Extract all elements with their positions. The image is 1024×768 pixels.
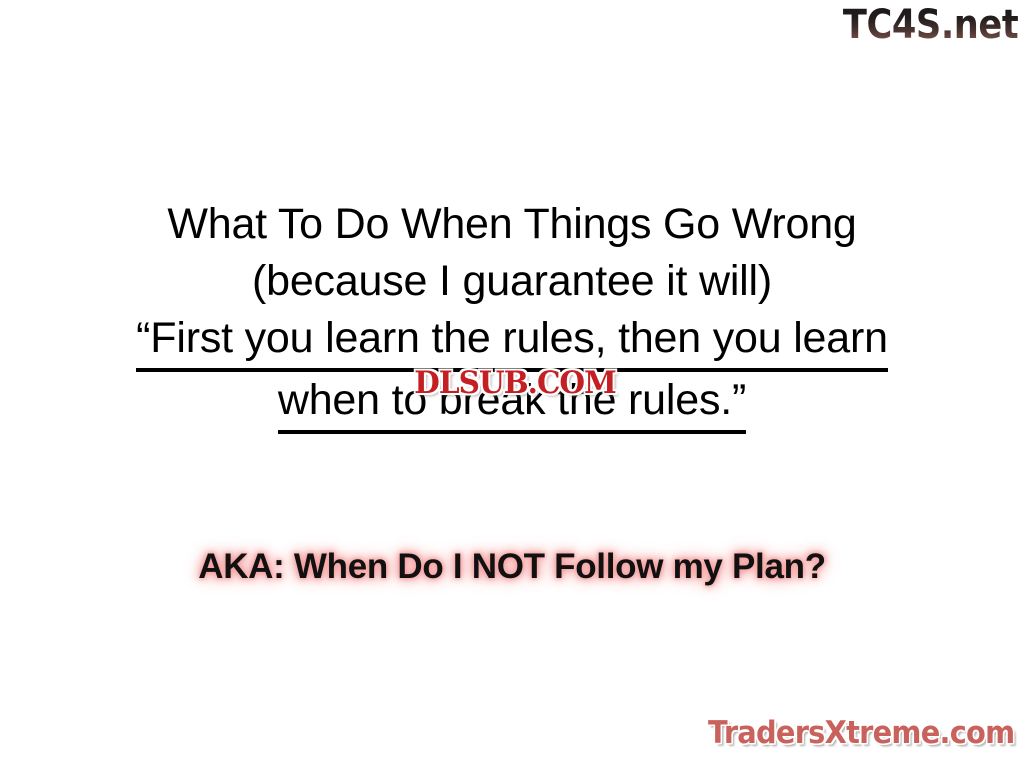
headline-line-1: What To Do When Things Go Wrong [0,196,1024,253]
quote-line-1: “First you learn the rules, then you lea… [136,310,888,372]
tc4s-brand-logo: TC4S.net [843,2,1018,48]
slide-canvas: TC4S.net What To Do When Things Go Wrong… [0,0,1024,768]
aka-subtitle: AKA: When Do I NOT Follow my Plan? [0,545,1024,589]
headline-line-2: (because I guarantee it will) [0,253,1024,310]
dlsub-watermark: DLSUB.COM [374,364,656,402]
tradersxtreme-footer-logo: TradersXtreme.com [708,714,1014,752]
quote-row-1: “First you learn the rules, then you lea… [0,310,1024,372]
dlsub-watermark-text: DLSUB.COM [414,368,615,399]
